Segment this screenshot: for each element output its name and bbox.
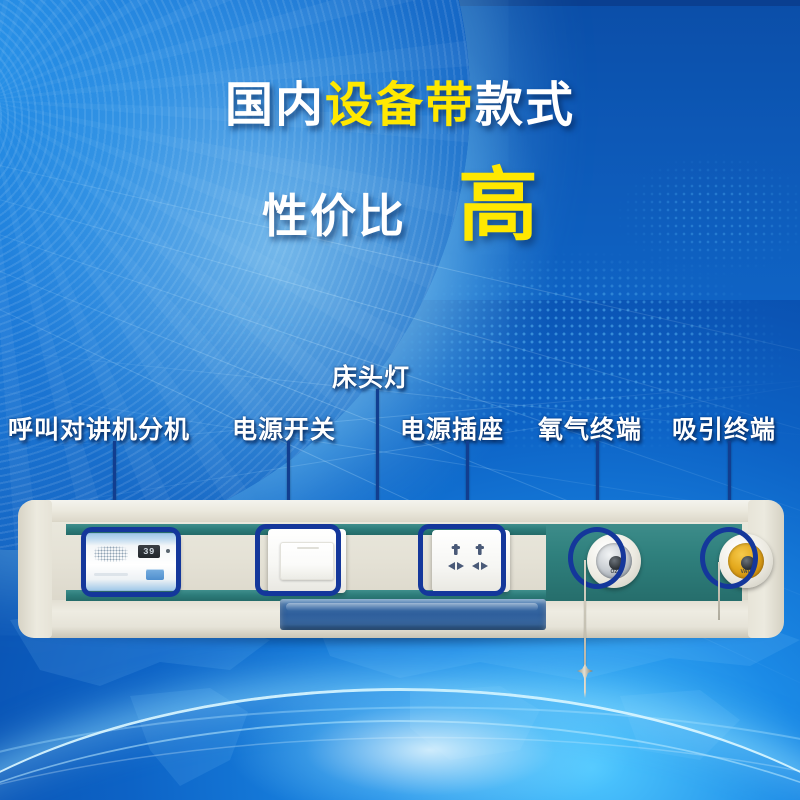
hanger-cord: [584, 560, 586, 672]
highlight-box-power-socket: [418, 524, 506, 596]
unit-left-end-cap: [18, 500, 52, 638]
highlight-box-power-switch: [255, 524, 341, 596]
callout-label-power-socket: 电源插座: [400, 410, 504, 446]
oxygen-hose-hanger: [577, 560, 593, 700]
promo-banner: 国内设备带款式 性价比 高 呼叫对讲机分机 电源开关 床头灯 电源插座 氧气终端…: [0, 0, 800, 800]
callout-label-oxygen: 氧气终端: [538, 410, 642, 446]
callout-label-bed-lamp: 床头灯: [332, 358, 410, 394]
highlight-circle-suction: [700, 527, 758, 589]
highlight-box-intercom: [81, 527, 181, 597]
callout-label-intercom: 呼叫对讲机分机: [8, 410, 190, 446]
bed-lamp-diffuser: [280, 599, 546, 630]
suction-hose-cord: [716, 562, 722, 620]
callout-label-power-switch: 电源开关: [232, 410, 336, 446]
callout-label-suction: 吸引终端: [672, 410, 776, 446]
hanger-hook-icon: [577, 664, 593, 698]
halftone-world-dots-upper: [600, 150, 800, 280]
